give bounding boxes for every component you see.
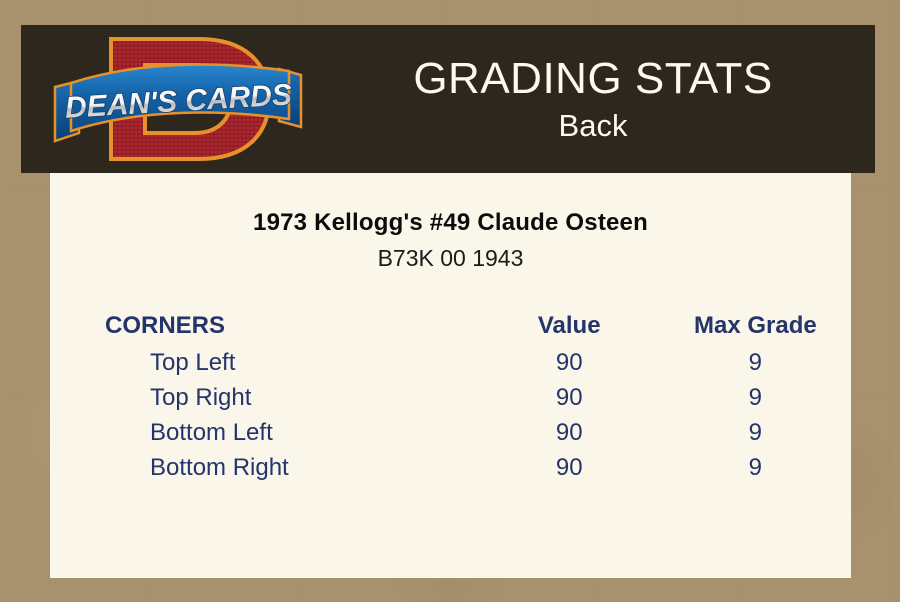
row-max-grade-bottom-right: 9: [660, 450, 851, 485]
row-max-grade-top-left: 9: [660, 345, 851, 380]
column-header-corners: CORNERS: [50, 307, 479, 345]
stats-table-head: CORNERS Value Max Grade: [50, 307, 851, 345]
card-title: 1973 Kellogg's #49 Claude Osteen: [50, 209, 851, 237]
column-header-value: Value: [479, 307, 660, 345]
grading-stats-table: CORNERS Value Max Grade Top Left 90 9 To…: [50, 307, 851, 485]
deans-cards-logo[interactable]: DEAN'S CARDS: [49, 27, 307, 171]
page-subtitle: Back: [559, 107, 628, 145]
stats-header-row: CORNERS Value Max Grade: [50, 307, 851, 345]
row-value-bottom-left: 90: [479, 415, 660, 450]
table-row: Bottom Right 90 9: [50, 450, 851, 485]
row-value-bottom-right: 90: [479, 450, 660, 485]
content-panel: 1973 Kellogg's #49 Claude Osteen B73K 00…: [50, 173, 851, 578]
column-header-max-grade: Max Grade: [660, 307, 851, 345]
row-label-top-left: Top Left: [50, 345, 479, 380]
header-bar: DEAN'S CARDS GRADING STATS Back: [21, 25, 875, 173]
row-label-bottom-right: Bottom Right: [50, 450, 479, 485]
page-root: DEAN'S CARDS GRADING STATS Back 1973 Kel…: [0, 0, 900, 602]
row-value-top-right: 90: [479, 380, 660, 415]
row-max-grade-bottom-left: 9: [660, 415, 851, 450]
table-row: Bottom Left 90 9: [50, 415, 851, 450]
row-label-top-right: Top Right: [50, 380, 479, 415]
row-value-top-left: 90: [479, 345, 660, 380]
table-row: Top Left 90 9: [50, 345, 851, 380]
row-max-grade-top-right: 9: [660, 380, 851, 415]
table-row: Top Right 90 9: [50, 380, 851, 415]
stats-table-body: Top Left 90 9 Top Right 90 9 Bottom Left…: [50, 345, 851, 485]
card-code: B73K 00 1943: [50, 245, 851, 272]
header-text-block: GRADING STATS Back: [311, 25, 875, 173]
row-label-bottom-left: Bottom Left: [50, 415, 479, 450]
page-title: GRADING STATS: [413, 53, 772, 105]
